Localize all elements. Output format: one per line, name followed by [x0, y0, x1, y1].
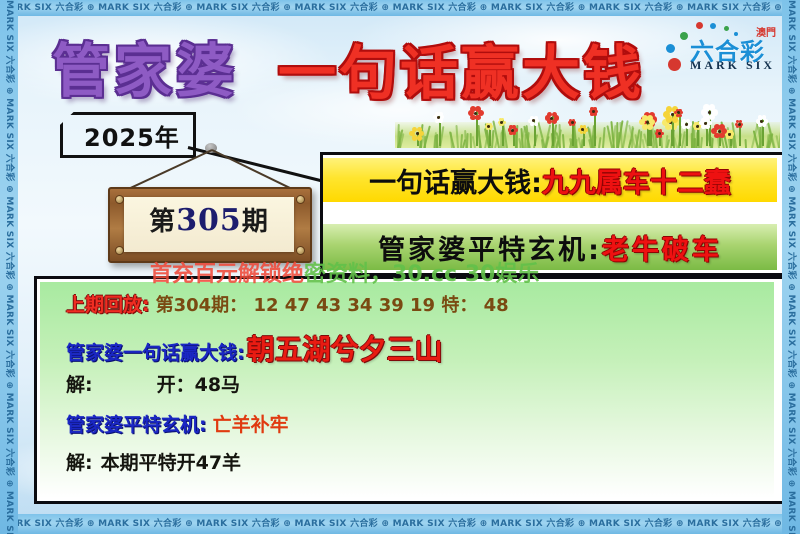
- flower-center: [646, 121, 649, 124]
- yellow-banner-label: 一句话赢大钱:: [369, 168, 542, 199]
- content-panel: 上期回放: 第304期： 12 47 43 34 39 19 特： 48 管家婆…: [34, 276, 786, 504]
- flower-petal: [475, 115, 481, 121]
- flower-center: [696, 125, 699, 128]
- border-top-text: MARK SIX 六合彩 ⊕ MARK SIX 六合彩 ⊕ MARK SIX 六…: [0, 3, 800, 13]
- flower-center: [671, 113, 674, 116]
- flower-petal: [719, 133, 725, 139]
- flower-center: [718, 130, 721, 133]
- flower-petal: [438, 118, 442, 122]
- flower-center: [500, 121, 503, 124]
- flower-petal: [417, 135, 423, 141]
- mark-six-logo: 六合彩 MARK SIX 澳門: [666, 22, 778, 78]
- flower-petal: [552, 112, 557, 117]
- replay-label: 上期回放:: [66, 290, 150, 317]
- logo-dot: [680, 32, 688, 40]
- headline-slogan: 一句话赢大钱: [278, 26, 644, 110]
- border-bottom: MARK SIX 六合彩 ⊕ MARK SIX 六合彩 ⊕ MARK SIX 六…: [0, 514, 800, 534]
- sign-screw: [115, 246, 124, 255]
- green-banner-line: 管家婆平特玄机:老牛破车: [378, 228, 722, 267]
- border-right: MARK SIX 六合彩 ⊕ MARK SIX 六合彩 ⊕ MARK SIX 六…: [782, 0, 800, 534]
- riddle-value: 亡羊补牢: [213, 410, 289, 437]
- border-right-text: MARK SIX 六合彩 ⊕ MARK SIX 六合彩 ⊕ MARK SIX 六…: [782, 0, 800, 18]
- sign-screw: [115, 195, 124, 204]
- flower-petal: [709, 114, 716, 121]
- flower-center: [592, 110, 595, 113]
- flower-center: [571, 121, 574, 124]
- answer-one-label: 解:: [66, 370, 93, 397]
- border-bottom-text: MARK SIX 六合彩 ⊕ MARK SIX 六合彩 ⊕ MARK SIX 六…: [0, 519, 800, 529]
- yellow-banner: 一句话赢大钱:九九属车十二蠢: [323, 158, 777, 202]
- issue-number: 305: [176, 203, 242, 238]
- flower-center: [708, 111, 711, 114]
- flower-center: [658, 132, 661, 135]
- content-row-phrase: 管家婆一句话赢大钱: 朝五湖兮夕三山: [40, 326, 774, 368]
- yellow-banner-value: 九九属车十二蠢: [542, 168, 731, 199]
- wooden-issue-sign: 第305期: [108, 187, 312, 263]
- brand-title: 管家婆: [52, 24, 238, 108]
- logo-dot: [666, 44, 675, 53]
- answer-two-value: 本期平特开47羊: [101, 448, 241, 475]
- flower-center: [704, 122, 707, 125]
- issue-number-display: 第305期: [124, 201, 294, 238]
- issue-prefix: 第: [149, 207, 176, 237]
- content-row-answer-two: 解: 本期平特开47羊: [40, 446, 774, 486]
- flower-petal: [709, 104, 716, 111]
- logo-english-text: MARK SIX: [690, 58, 775, 73]
- flower-center: [685, 123, 688, 126]
- flower-petal: [647, 124, 653, 130]
- logo-dot: [724, 26, 729, 31]
- flower-center: [474, 112, 477, 115]
- yellow-banner-line: 一句话赢大钱:九九属车十二蠢: [369, 161, 731, 200]
- sign-screw: [296, 246, 305, 255]
- content-row-answer-one: 解: 开：48马: [40, 368, 774, 408]
- answer-two-label: 解:: [66, 448, 93, 475]
- logo-dot: [710, 23, 716, 29]
- answer-one-value: 开：48马: [157, 370, 240, 397]
- grass-blade: [434, 135, 437, 148]
- logo-region-text: 澳門: [756, 24, 776, 39]
- flower-petal: [705, 124, 710, 129]
- phrase-label: 管家婆一句话赢大钱:: [66, 338, 245, 365]
- grass-blade: [464, 130, 467, 148]
- replay-value: 第304期： 12 47 43 34 39 19 特： 48: [156, 291, 509, 317]
- sign-screw: [296, 195, 305, 204]
- year-label: 2025年: [84, 118, 180, 153]
- green-banner-label: 管家婆平特玄机:: [378, 235, 602, 266]
- issue-suffix: 期: [242, 207, 269, 237]
- logo-dot: [696, 22, 703, 29]
- border-top: MARK SIX 六合彩 ⊕ MARK SIX 六合彩 ⊕ MARK SIX 六…: [0, 0, 800, 16]
- banner-frame: 一句话赢大钱:九九属车十二蠢 管家婆平特玄机:老牛破车: [320, 152, 786, 276]
- flower-center: [728, 133, 731, 136]
- grass-blade: [460, 134, 463, 148]
- flower-center: [437, 116, 440, 119]
- flower-center: [511, 129, 514, 132]
- phrase-value: 朝五湖兮夕三山: [247, 328, 443, 368]
- riddle-label: 管家婆平特玄机:: [66, 410, 207, 437]
- grass-blade: [515, 134, 517, 148]
- border-left: MARK SIX 六合彩 ⊕ MARK SIX 六合彩 ⊕ MARK SIX 六…: [0, 0, 18, 534]
- border-left-text: MARK SIX 六合彩 ⊕ MARK SIX 六合彩 ⊕ MARK SIX 六…: [0, 0, 18, 18]
- green-banner-value: 老牛破车: [602, 235, 722, 266]
- content-panel-inner: 上期回放: 第304期： 12 47 43 34 39 19 特： 48 管家婆…: [40, 282, 774, 498]
- grass-blade: [616, 122, 618, 148]
- flower-petal: [534, 122, 538, 126]
- flower-center: [416, 132, 419, 135]
- content-row-replay: 上期回放: 第304期： 12 47 43 34 39 19 特： 48: [40, 288, 774, 326]
- sign-paper: 第305期: [124, 197, 294, 252]
- logo-dot: [668, 58, 681, 71]
- content-row-riddle: 管家婆平特玄机: 亡羊补牢: [40, 408, 774, 446]
- grass-blade: [562, 134, 565, 148]
- flower-petal: [678, 114, 681, 117]
- green-banner: 管家婆平特玄机:老牛破车: [323, 224, 777, 270]
- flower-center: [738, 123, 741, 126]
- lottery-poster: 管家婆 一句话赢大钱 六合彩 MARK SIX 澳門 2025年 第305期: [0, 0, 800, 534]
